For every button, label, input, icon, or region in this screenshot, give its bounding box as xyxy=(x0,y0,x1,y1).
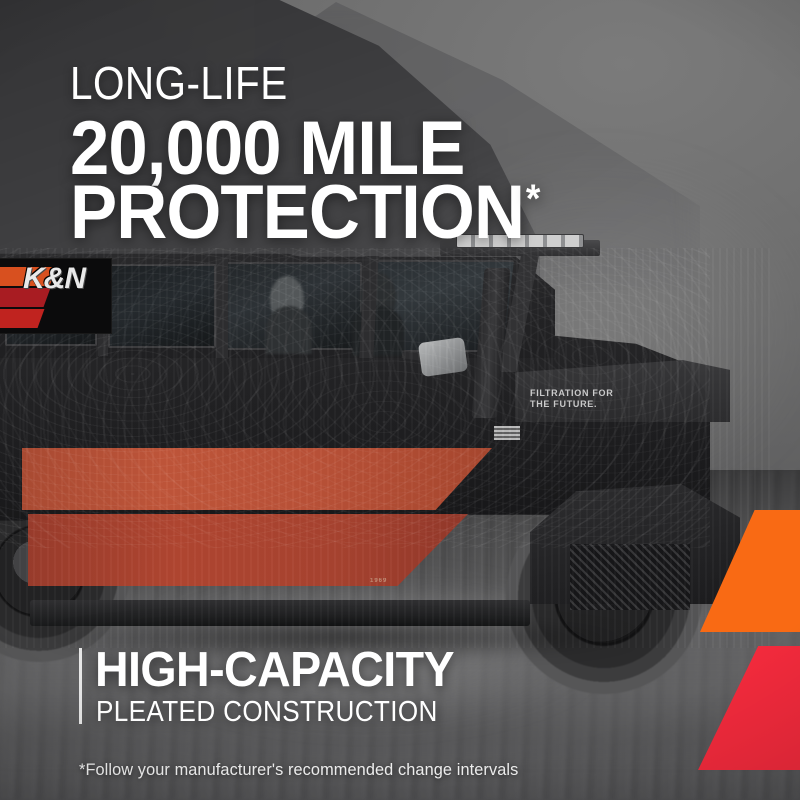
copy-block: LONG-LIFE 20,000 MILE PROTECTION* HIGH-C… xyxy=(0,0,800,800)
headline-asterisk: * xyxy=(526,177,540,221)
kn-promo-banner: FILTRATION FOR THE FUTURE. 1969 K&N LONG… xyxy=(0,0,800,800)
subhead-vertical-rule xyxy=(79,648,82,724)
headline-line-2: PROTECTION* xyxy=(70,176,539,250)
subhead-primary: HIGH-CAPACITY xyxy=(95,645,454,695)
headline-line-2-text: PROTECTION xyxy=(70,170,524,255)
footnote-text: *Follow your manufacturer's recommended … xyxy=(79,760,518,780)
eyebrow-text: LONG-LIFE xyxy=(70,60,288,106)
subhead-secondary: PLEATED CONSTRUCTION xyxy=(96,697,438,727)
